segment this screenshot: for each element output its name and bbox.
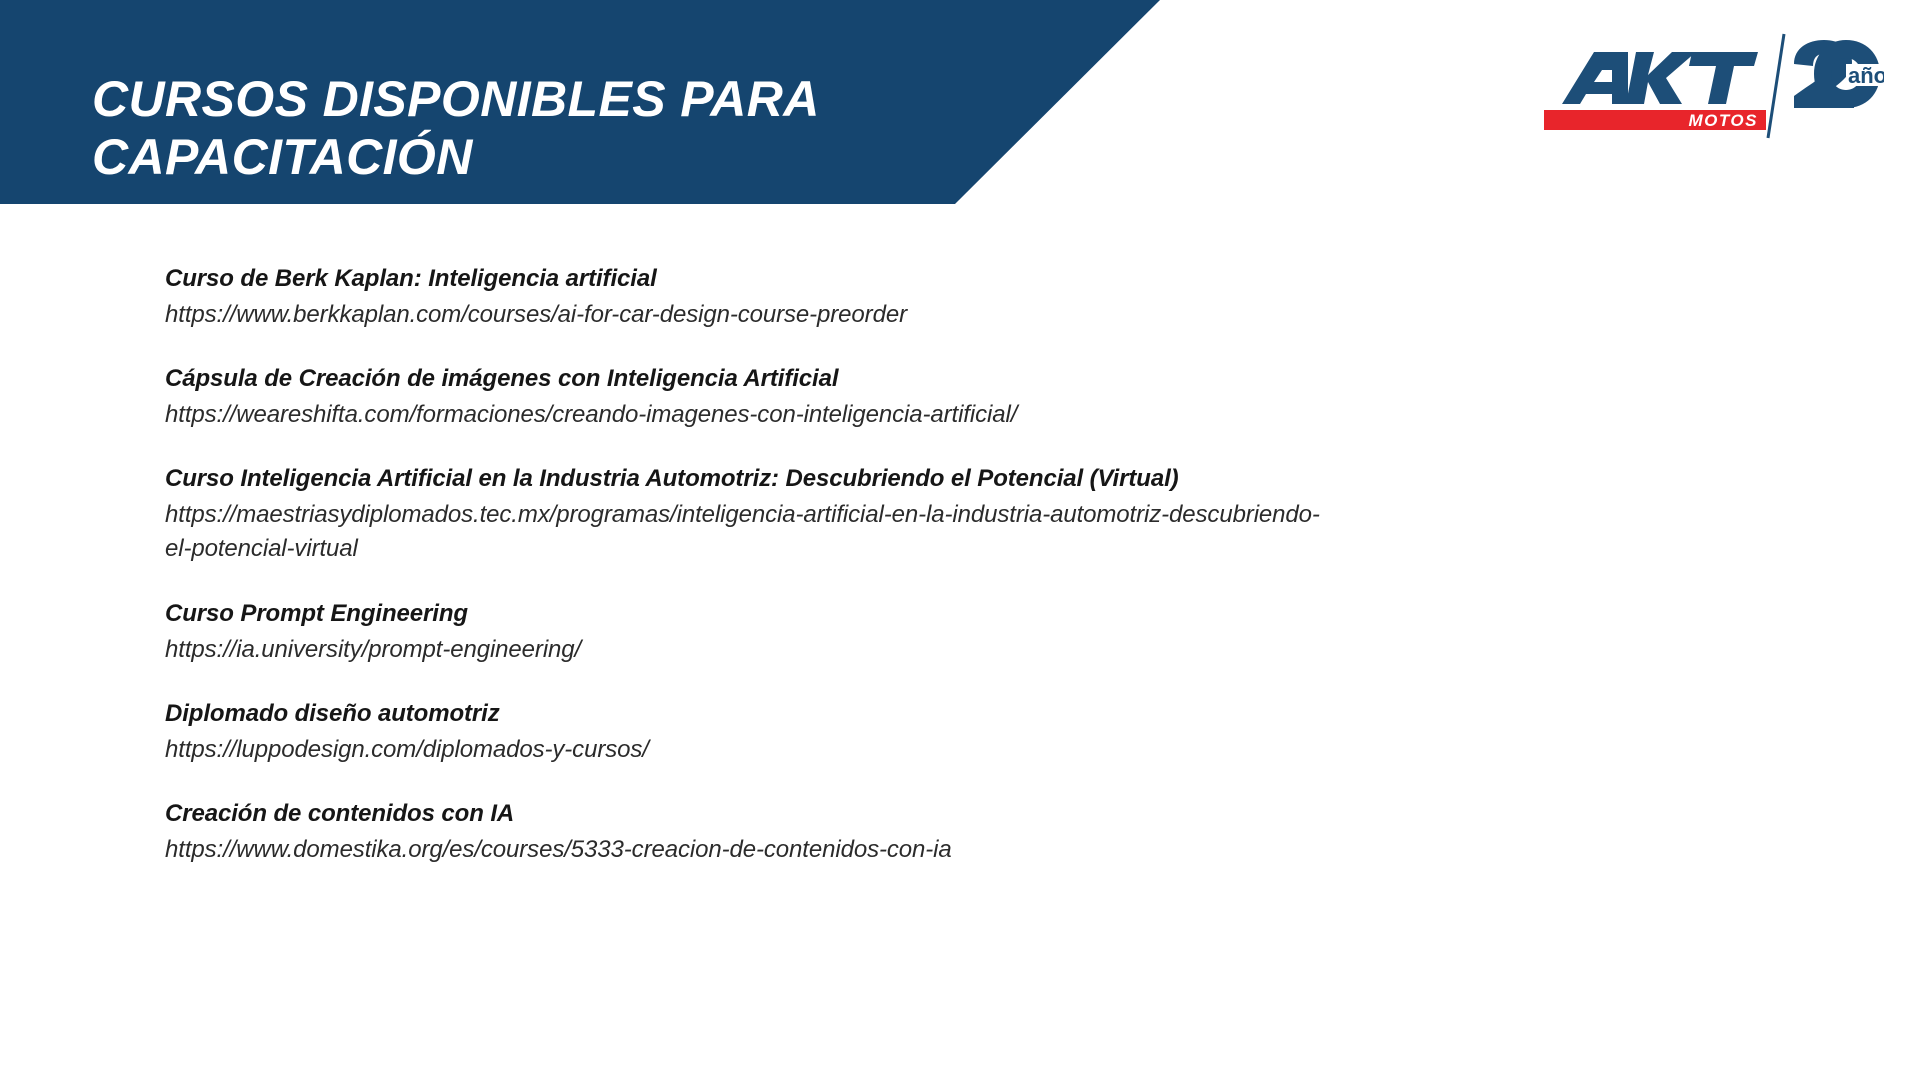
akt-motos-20-anos-logo: MOTOS años [1532,30,1884,142]
anos-text: años [1848,63,1884,88]
course-url[interactable]: https://ia.university/prompt-engineering… [165,633,1335,667]
motos-text: MOTOS [1688,111,1758,130]
course-title: Cápsula de Creación de imágenes con Inte… [165,362,1665,396]
motos-bar-icon: MOTOS [1544,110,1766,130]
course-list: Curso de Berk Kaplan: Inteligencia artif… [165,262,1665,867]
course-item: Curso Prompt Engineering https://ia.univ… [165,597,1665,667]
course-title: Curso Inteligencia Artificial en la Indu… [165,462,1665,496]
course-url[interactable]: https://luppodesign.com/diplomados-y-cur… [165,733,1335,767]
course-url[interactable]: https://www.berkkaplan.com/courses/ai-fo… [165,298,1335,332]
course-item: Creación de contenidos con IA https://ww… [165,797,1665,867]
divider-slash-icon [1768,34,1784,138]
course-url[interactable]: https://maestriasydiplomados.tec.mx/prog… [165,498,1335,566]
course-title: Creación de contenidos con IA [165,797,1665,831]
anniversary-mark-icon: años [1794,40,1884,108]
course-title: Curso Prompt Engineering [165,597,1665,631]
course-item: Curso de Berk Kaplan: Inteligencia artif… [165,262,1665,332]
course-item: Cápsula de Creación de imágenes con Inte… [165,362,1665,432]
page-title: CURSOS DISPONIBLES PARA CAPACITACIÓN [92,70,972,187]
course-title: Diplomado diseño automotriz [165,697,1665,731]
course-item: Diplomado diseño automotriz https://lupp… [165,697,1665,767]
course-title: Curso de Berk Kaplan: Inteligencia artif… [165,262,1665,296]
course-url[interactable]: https://weareshifta.com/formaciones/crea… [165,398,1335,432]
course-url[interactable]: https://www.domestika.org/es/courses/533… [165,833,1335,867]
akt-wordmark-icon [1562,52,1758,104]
course-item: Curso Inteligencia Artificial en la Indu… [165,462,1665,566]
